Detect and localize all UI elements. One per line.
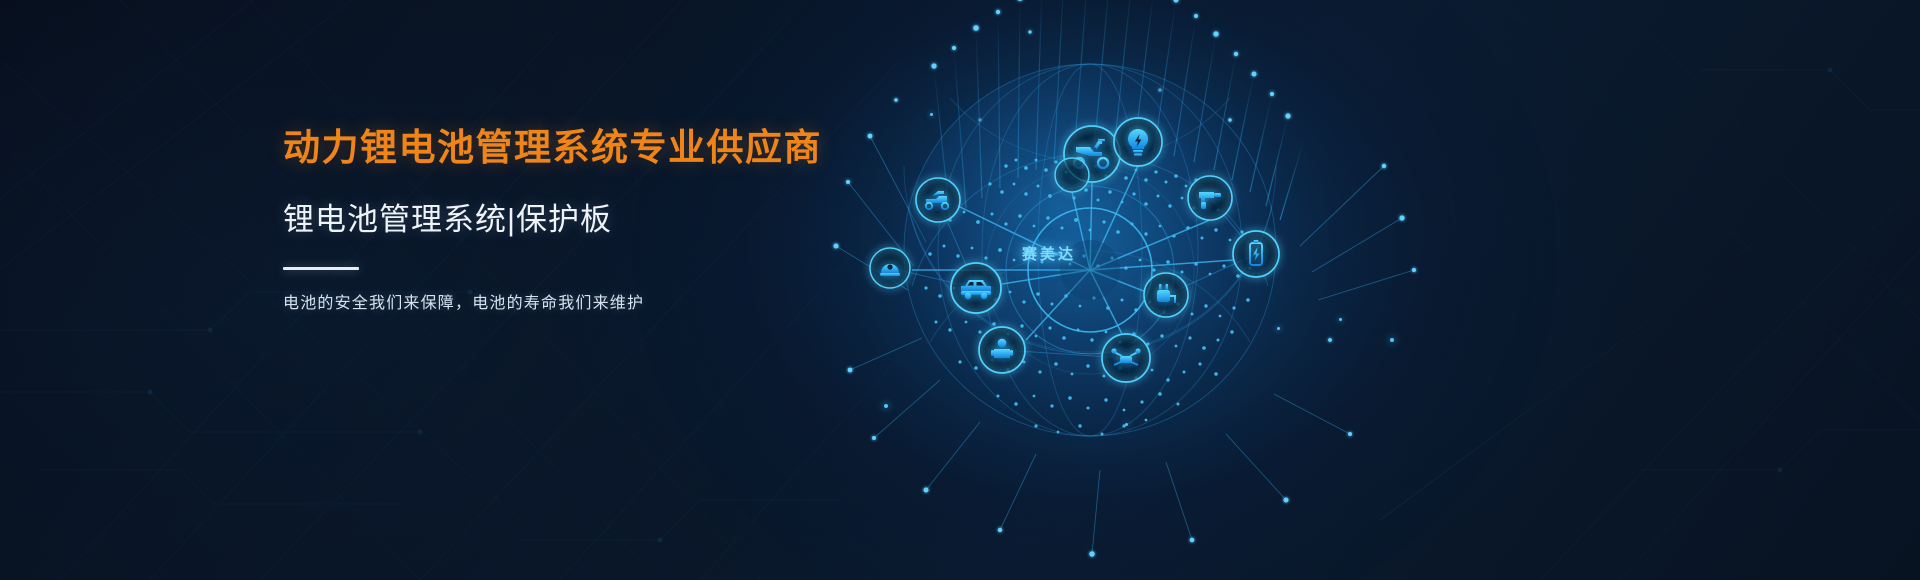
node-lightbulb-icon [1114,118,1162,166]
node-vacuum-icon [870,248,910,288]
page-title: 动力锂电池管理系统专业供应商 [283,126,903,170]
node-car-icon [951,263,1001,313]
network-globe-graphic [830,0,1470,580]
hero-banner: 动力锂电池管理系统专业供应商 锂电池管理系统|保护板 电池的安全我们来保障，电池… [0,0,1920,580]
node-plug-icon [1144,273,1188,317]
page-tagline: 电池的安全我们来保障，电池的寿命我们来维护 [283,270,903,316]
page-subtitle: 锂电池管理系统|保护板 [283,170,903,240]
node-drone-icon [1102,334,1150,382]
node-robot-icon [979,327,1025,373]
node-ebike-icon [916,178,960,222]
node-battery-icon [1233,231,1279,277]
hero-copy: 动力锂电池管理系统专业供应商 锂电池管理系统|保护板 电池的安全我们来保障，电池… [283,126,903,316]
node-powertool-icon [1188,176,1232,220]
node-empty-node-icon [1055,158,1089,192]
